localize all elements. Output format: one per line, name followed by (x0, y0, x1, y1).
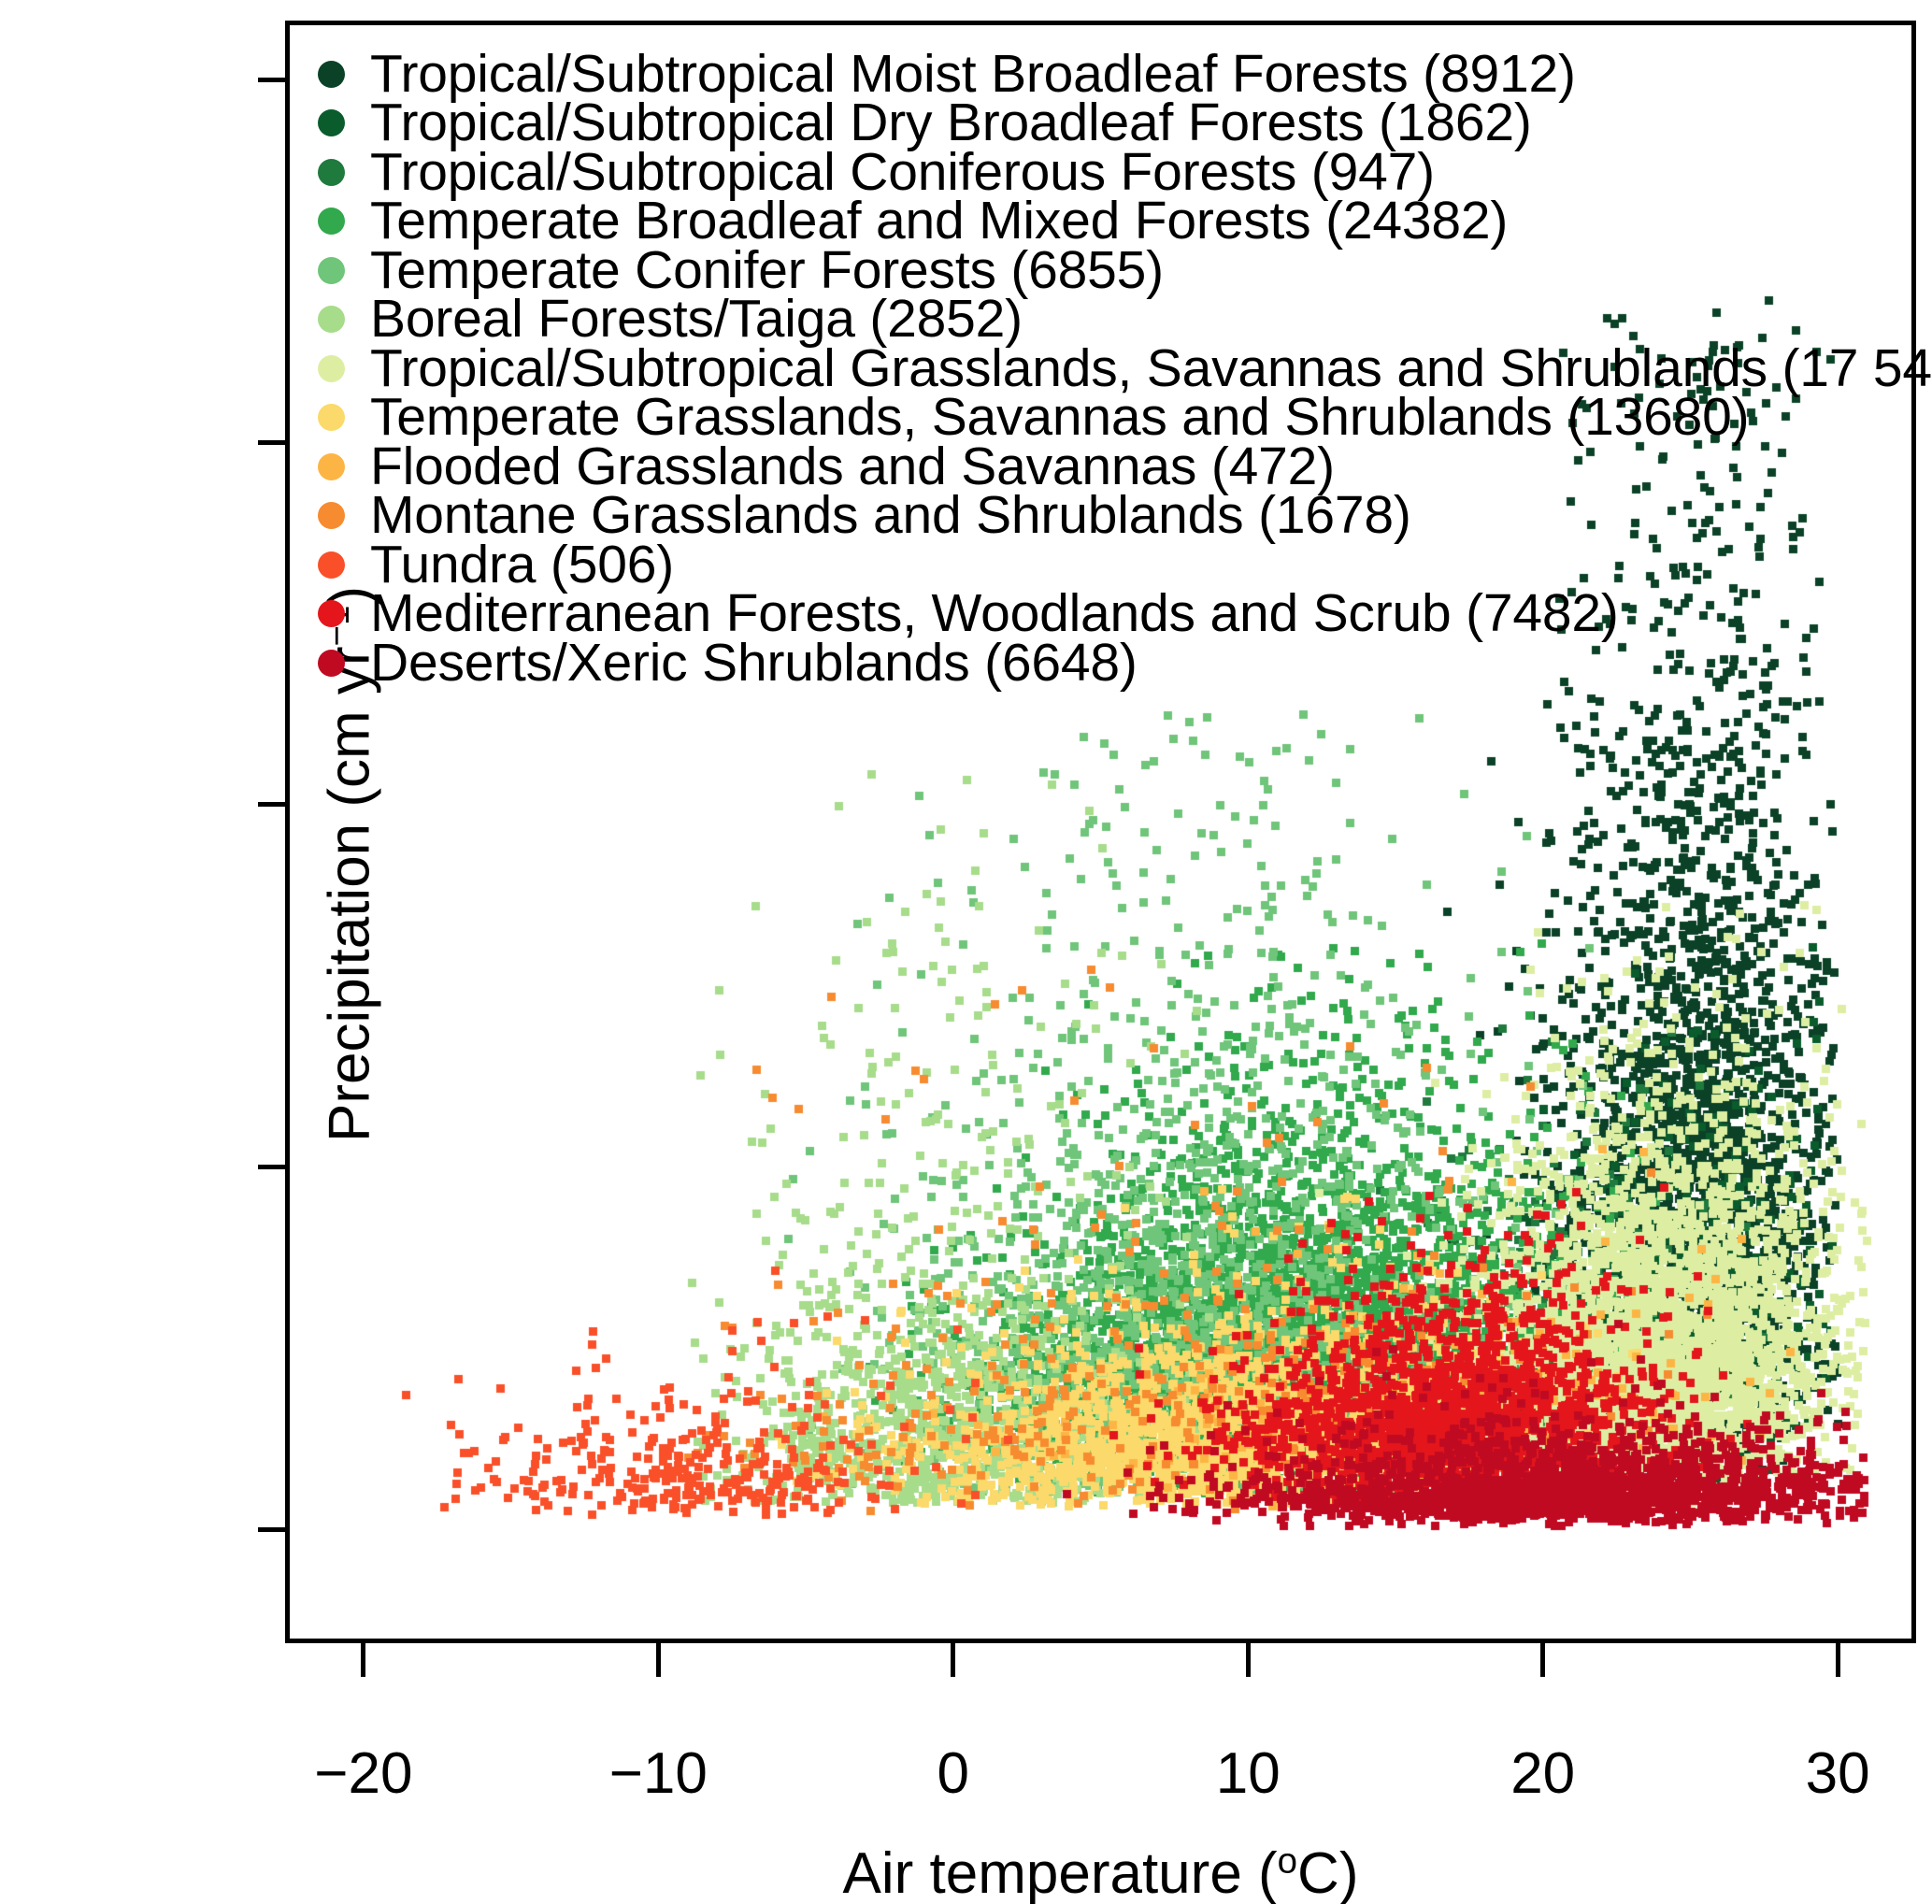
plot-frame: 0200400600800 −20−100102030 Precipitatio… (285, 21, 1916, 1643)
legend-item[interactable]: Tundra (506) (318, 540, 1907, 590)
legend-item[interactable]: Temperate Conifer Forests (6855) (318, 246, 1907, 295)
y-axis-tick (258, 78, 290, 82)
x-axis-tick-label: 30 (1744, 1745, 1931, 1803)
x-axis-title: Air temperature (oC) (290, 1840, 1911, 1904)
legend-color-swatch-icon (318, 600, 345, 627)
legend-item[interactable]: Tropical/Subtropical Moist Broadleaf For… (318, 50, 1907, 99)
legend-item[interactable]: Flooded Grasslands and Savannas (472) (318, 442, 1907, 492)
legend-color-swatch-icon (318, 109, 345, 136)
y-axis-title-text: Precipitation (cm yr (318, 646, 382, 1142)
legend-item[interactable]: Temperate Grasslands, Savannas and Shrub… (318, 394, 1907, 443)
x-axis-title-close: C) (1297, 1841, 1358, 1904)
legend-color-swatch-icon (318, 355, 345, 382)
x-axis-tick (1246, 1643, 1251, 1677)
x-axis-tick-label: 20 (1450, 1745, 1637, 1803)
legend-color-swatch-icon (318, 404, 345, 431)
degree-symbol-icon: o (1278, 1840, 1297, 1881)
x-axis-title-text: Air temperature ( (843, 1841, 1278, 1904)
legend-item[interactable]: Tropical/Subtropical Grasslands, Savanna… (318, 344, 1907, 394)
legend-color-swatch-icon (318, 551, 345, 579)
legend-color-swatch-icon (318, 159, 345, 186)
legend-item[interactable]: Mediterranean Forests, Woodlands and Scr… (318, 590, 1907, 639)
x-axis-tick (1540, 1643, 1545, 1677)
legend-color-swatch-icon (318, 306, 345, 333)
legend-item[interactable]: Tropical/Subtropical Coniferous Forests … (318, 148, 1907, 197)
x-axis-tick-label: −20 (270, 1745, 457, 1803)
legend-color-swatch-icon (318, 208, 345, 235)
x-axis-tick-label: 10 (1154, 1745, 1341, 1803)
legend-item[interactable]: Temperate Broadleaf and Mixed Forests (2… (318, 197, 1907, 247)
x-axis-tick-label: −10 (565, 1745, 751, 1803)
y-axis-tick (258, 1527, 290, 1532)
legend-color-swatch-icon (318, 257, 345, 284)
figure-root: 0200400600800 −20−100102030 Precipitatio… (0, 0, 1932, 1904)
legend-item[interactable]: Montane Grasslands and Shrublands (1678) (318, 492, 1907, 541)
x-axis-tick (951, 1643, 955, 1677)
legend-item-label: Deserts/Xeric Shrublands (6648) (370, 637, 1138, 690)
legend-color-swatch-icon (318, 61, 345, 88)
legend-color-swatch-icon (318, 502, 345, 529)
legend-color-swatch-icon (318, 650, 345, 677)
x-axis-tick (1836, 1643, 1840, 1677)
y-axis-tick (258, 440, 290, 445)
x-axis-tick (656, 1643, 661, 1677)
y-axis-tick (258, 1165, 290, 1169)
legend: Tropical/Subtropical Moist Broadleaf For… (318, 50, 1907, 688)
y-axis-tick (258, 802, 290, 807)
legend-color-swatch-icon (318, 453, 345, 480)
x-axis-tick (361, 1643, 365, 1677)
x-axis-tick-label: 0 (860, 1745, 1047, 1803)
legend-item[interactable]: Deserts/Xeric Shrublands (6648) (318, 638, 1907, 688)
legend-item[interactable]: Tropical/Subtropical Dry Broadleaf Fores… (318, 99, 1907, 149)
legend-item[interactable]: Boreal Forests/Taiga (2852) (318, 295, 1907, 345)
